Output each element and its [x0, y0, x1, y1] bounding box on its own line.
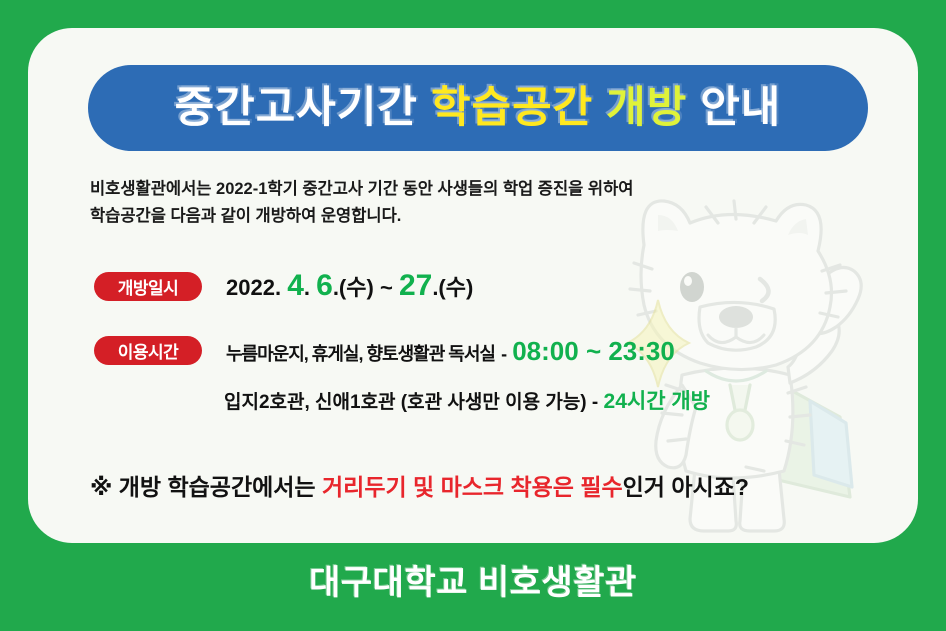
open-date-value: 2022. 4. 6.(수) ~ 27.(수): [226, 271, 473, 301]
time2-hours: 24시간 개방: [604, 390, 710, 413]
title-part-opening: 개방: [606, 84, 687, 132]
intro-line-2: 학습공간을 다음과 같이 개방하여 운영합니다.: [90, 203, 790, 230]
poster-root: 중간고사기간 학습공간 개방 안내 비호생활관에서는 2022-1학기 중간고사…: [0, 0, 946, 631]
title-banner: 중간고사기간 학습공간 개방 안내: [88, 65, 868, 151]
notice-prefix: 개방 학습공간에서는: [119, 474, 316, 500]
footer-organization: 대구대학교 비호생활관: [0, 555, 946, 604]
intro-paragraph: 비호생활관에서는 2022-1학기 중간고사 기간 동안 사생들의 학업 증진을…: [90, 176, 790, 229]
open-date-badge: 개방일시: [94, 272, 202, 301]
date-dot-1: .: [304, 275, 310, 300]
time-dash: -: [501, 344, 506, 364]
time-hours: 08:00 ~ 23:30: [512, 336, 675, 366]
date-day-start-suffix: .(수): [333, 275, 374, 300]
title-part-exam-period: 중간고사기간: [175, 84, 418, 132]
date-month: 4: [287, 269, 304, 302]
title-part-study-space: 학습공간: [431, 84, 593, 132]
notice-suffix: 인거 아시죠?: [623, 474, 749, 500]
time2-venues: 입지2호관, 신애1호관 (호관 사생만 이용 가능): [224, 392, 587, 413]
notice-emphasis: 거리두기 및 마스크 착용은 필수: [322, 474, 623, 500]
title-part-notice: 안내: [700, 84, 781, 132]
date-day-start: 6: [316, 269, 333, 302]
open-time-secondary-value: 입지2호관, 신애1호관 (호관 사생만 이용 가능) - 24시간 개방: [224, 391, 710, 412]
page-title: 중간고사기간 학습공간 개방 안내: [175, 87, 782, 130]
time2-dash: -: [592, 392, 598, 413]
time-venues: 누름마운지, 휴게실, 향토생활관 독서실: [226, 344, 495, 364]
poster-card: 중간고사기간 학습공간 개방 안내 비호생활관에서는 2022-1학기 중간고사…: [28, 28, 918, 543]
open-time-row-secondary: 입지2호관, 신애1호관 (호관 사생만 이용 가능) - 24시간 개방: [224, 391, 710, 412]
date-year: 2022.: [226, 275, 281, 300]
notice-mark: ※: [90, 474, 112, 500]
open-time-badge: 이용시간: [94, 336, 202, 365]
open-time-value: 누름마운지, 휴게실, 향토생활관 독서실 - 08:00 ~ 23:30: [226, 338, 675, 364]
open-date-row: 개방일시 2022. 4. 6.(수) ~ 27.(수): [94, 271, 473, 301]
date-day-end-suffix: .(수): [432, 275, 473, 300]
date-range-tilde: ~: [380, 275, 393, 300]
intro-line-1: 비호생활관에서는 2022-1학기 중간고사 기간 동안 사생들의 학업 증진을…: [90, 176, 790, 203]
date-day-end: 27: [399, 269, 432, 302]
open-time-row: 이용시간 누름마운지, 휴게실, 향토생활관 독서실 - 08:00 ~ 23:…: [94, 336, 675, 365]
safety-notice: ※ 개방 학습공간에서는 거리두기 및 마스크 착용은 필수인거 아시죠?: [90, 476, 749, 499]
